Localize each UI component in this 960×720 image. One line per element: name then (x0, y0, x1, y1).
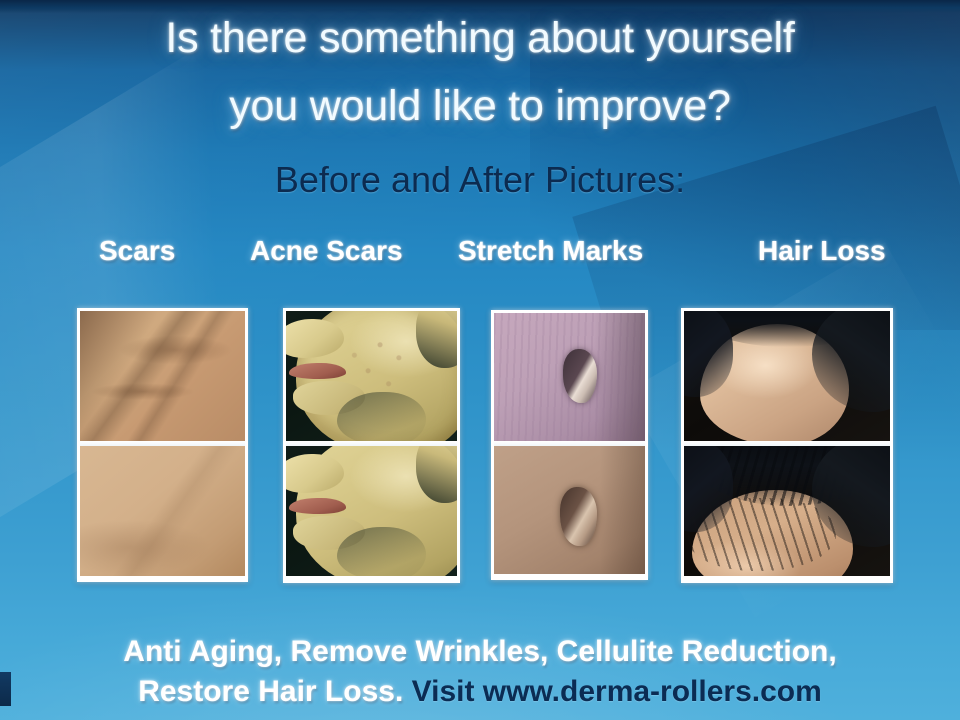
photo-pair-hair-loss (681, 308, 893, 583)
footer-line-1: Anti Aging, Remove Wrinkles, Cellulite R… (0, 632, 960, 672)
headline-line-2: you would like to improve? (0, 72, 960, 140)
hair-loss-after-photo (684, 446, 890, 576)
photo-pair-stretch-marks (491, 310, 648, 580)
photo-pair-scars (77, 308, 248, 582)
footer-text: Anti Aging, Remove Wrinkles, Cellulite R… (0, 632, 960, 712)
column-label-scars: Scars (99, 233, 175, 269)
acne-before-photo (286, 311, 457, 441)
photo-pair-acne-scars (283, 308, 460, 583)
footer-line-2: Restore Hair Loss. Visit www.derma-rolle… (0, 672, 960, 712)
footer-benefits: Restore Hair Loss. (138, 675, 403, 708)
column-header-row: Scars Acne Scars Stretch Marks Hair Loss (0, 233, 960, 269)
subheading: Before and After Pictures: (0, 158, 960, 202)
scars-before-photo (80, 311, 245, 441)
footer-website-cta: Visit www.derma-rollers.com (412, 675, 822, 708)
headline: Is there something about yourself you wo… (0, 4, 960, 140)
promotional-slide: Is there something about yourself you wo… (0, 0, 960, 720)
stretch-marks-after-photo (494, 446, 645, 574)
column-label-stretch-marks: Stretch Marks (458, 233, 643, 269)
headline-line-1: Is there something about yourself (165, 14, 794, 62)
column-label-hair-loss: Hair Loss (758, 233, 886, 269)
hair-loss-before-photo (684, 311, 890, 441)
stretch-marks-before-photo (494, 313, 645, 441)
scars-after-photo (80, 446, 245, 576)
acne-after-photo (286, 446, 457, 576)
column-label-acne-scars: Acne Scars (250, 233, 403, 269)
